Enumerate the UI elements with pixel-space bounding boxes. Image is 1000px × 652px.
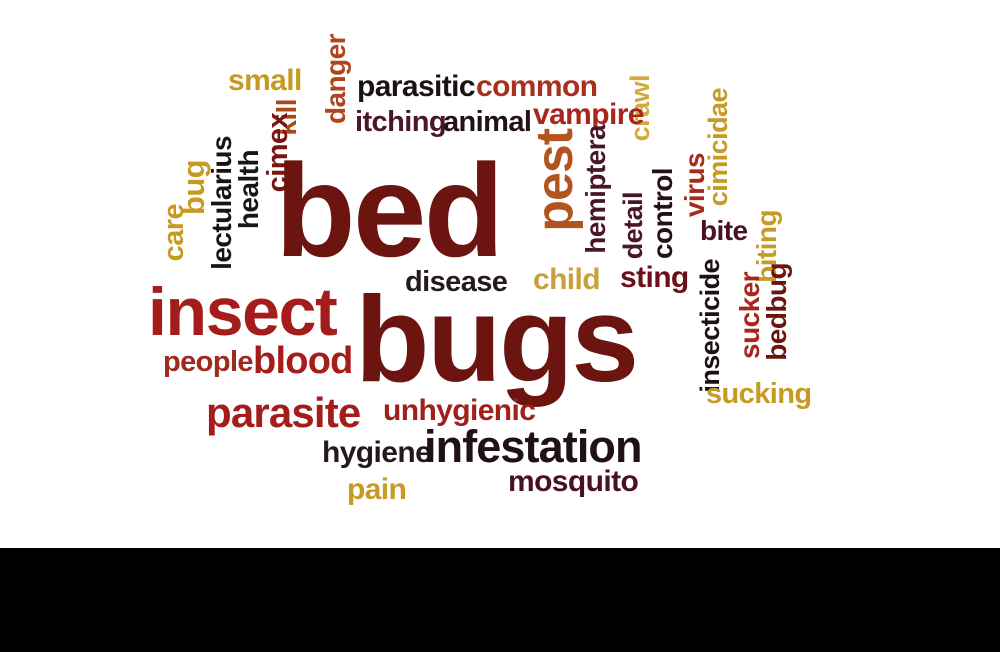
cloud-word-pain: pain bbox=[347, 475, 406, 505]
cloud-word-sucker: sucker bbox=[736, 272, 764, 359]
cloud-word-people: people bbox=[163, 348, 253, 377]
cloud-word-control: control bbox=[649, 168, 677, 259]
cloud-word-parasitic: parasitic bbox=[357, 72, 475, 102]
cloud-word-danger: danger bbox=[322, 34, 350, 124]
cloud-word-insect: insect bbox=[148, 278, 336, 346]
cloud-word-itching: itching bbox=[355, 108, 446, 137]
cloud-word-bed: bed bbox=[275, 145, 502, 277]
alamy-watermark-bar: alamy Image ID: 2KWY0P4 www.alamy.com bbox=[0, 548, 1000, 652]
cloud-word-bite: bite bbox=[700, 217, 748, 245]
cloud-word-detail: detail bbox=[620, 192, 647, 259]
cloud-word-hygiene: hygiene bbox=[322, 438, 431, 468]
cloud-word-bedbug: bedbug bbox=[763, 263, 791, 361]
cloud-word-small: small bbox=[228, 66, 302, 96]
cloud-word-hemiptera: hemiptera bbox=[582, 125, 610, 254]
cloud-word-lectularius: lectularius bbox=[208, 136, 236, 270]
cloud-word-parasite: parasite bbox=[206, 392, 360, 434]
cloud-word-health: health bbox=[235, 150, 263, 229]
cloud-word-mosquito: mosquito bbox=[508, 467, 638, 497]
cloud-word-blood: blood bbox=[253, 342, 353, 380]
cloud-word-virus: virus bbox=[681, 153, 709, 217]
cloud-word-care: care bbox=[160, 204, 189, 261]
cloud-word-sucking: sucking bbox=[706, 380, 812, 409]
cloud-word-animal: animal bbox=[443, 108, 531, 137]
cloud-word-bugs: bugs bbox=[355, 278, 637, 400]
word-cloud-canvas: smalldangerparasiticcommoncrawlkillitchi… bbox=[0, 0, 1000, 548]
cloud-word-pest: pest bbox=[529, 129, 581, 232]
screenshot-root: smalldangerparasiticcommoncrawlkillitchi… bbox=[0, 0, 1000, 652]
cloud-word-insecticide: insecticide bbox=[697, 259, 724, 393]
cloud-word-infestation: infestation bbox=[424, 424, 642, 469]
